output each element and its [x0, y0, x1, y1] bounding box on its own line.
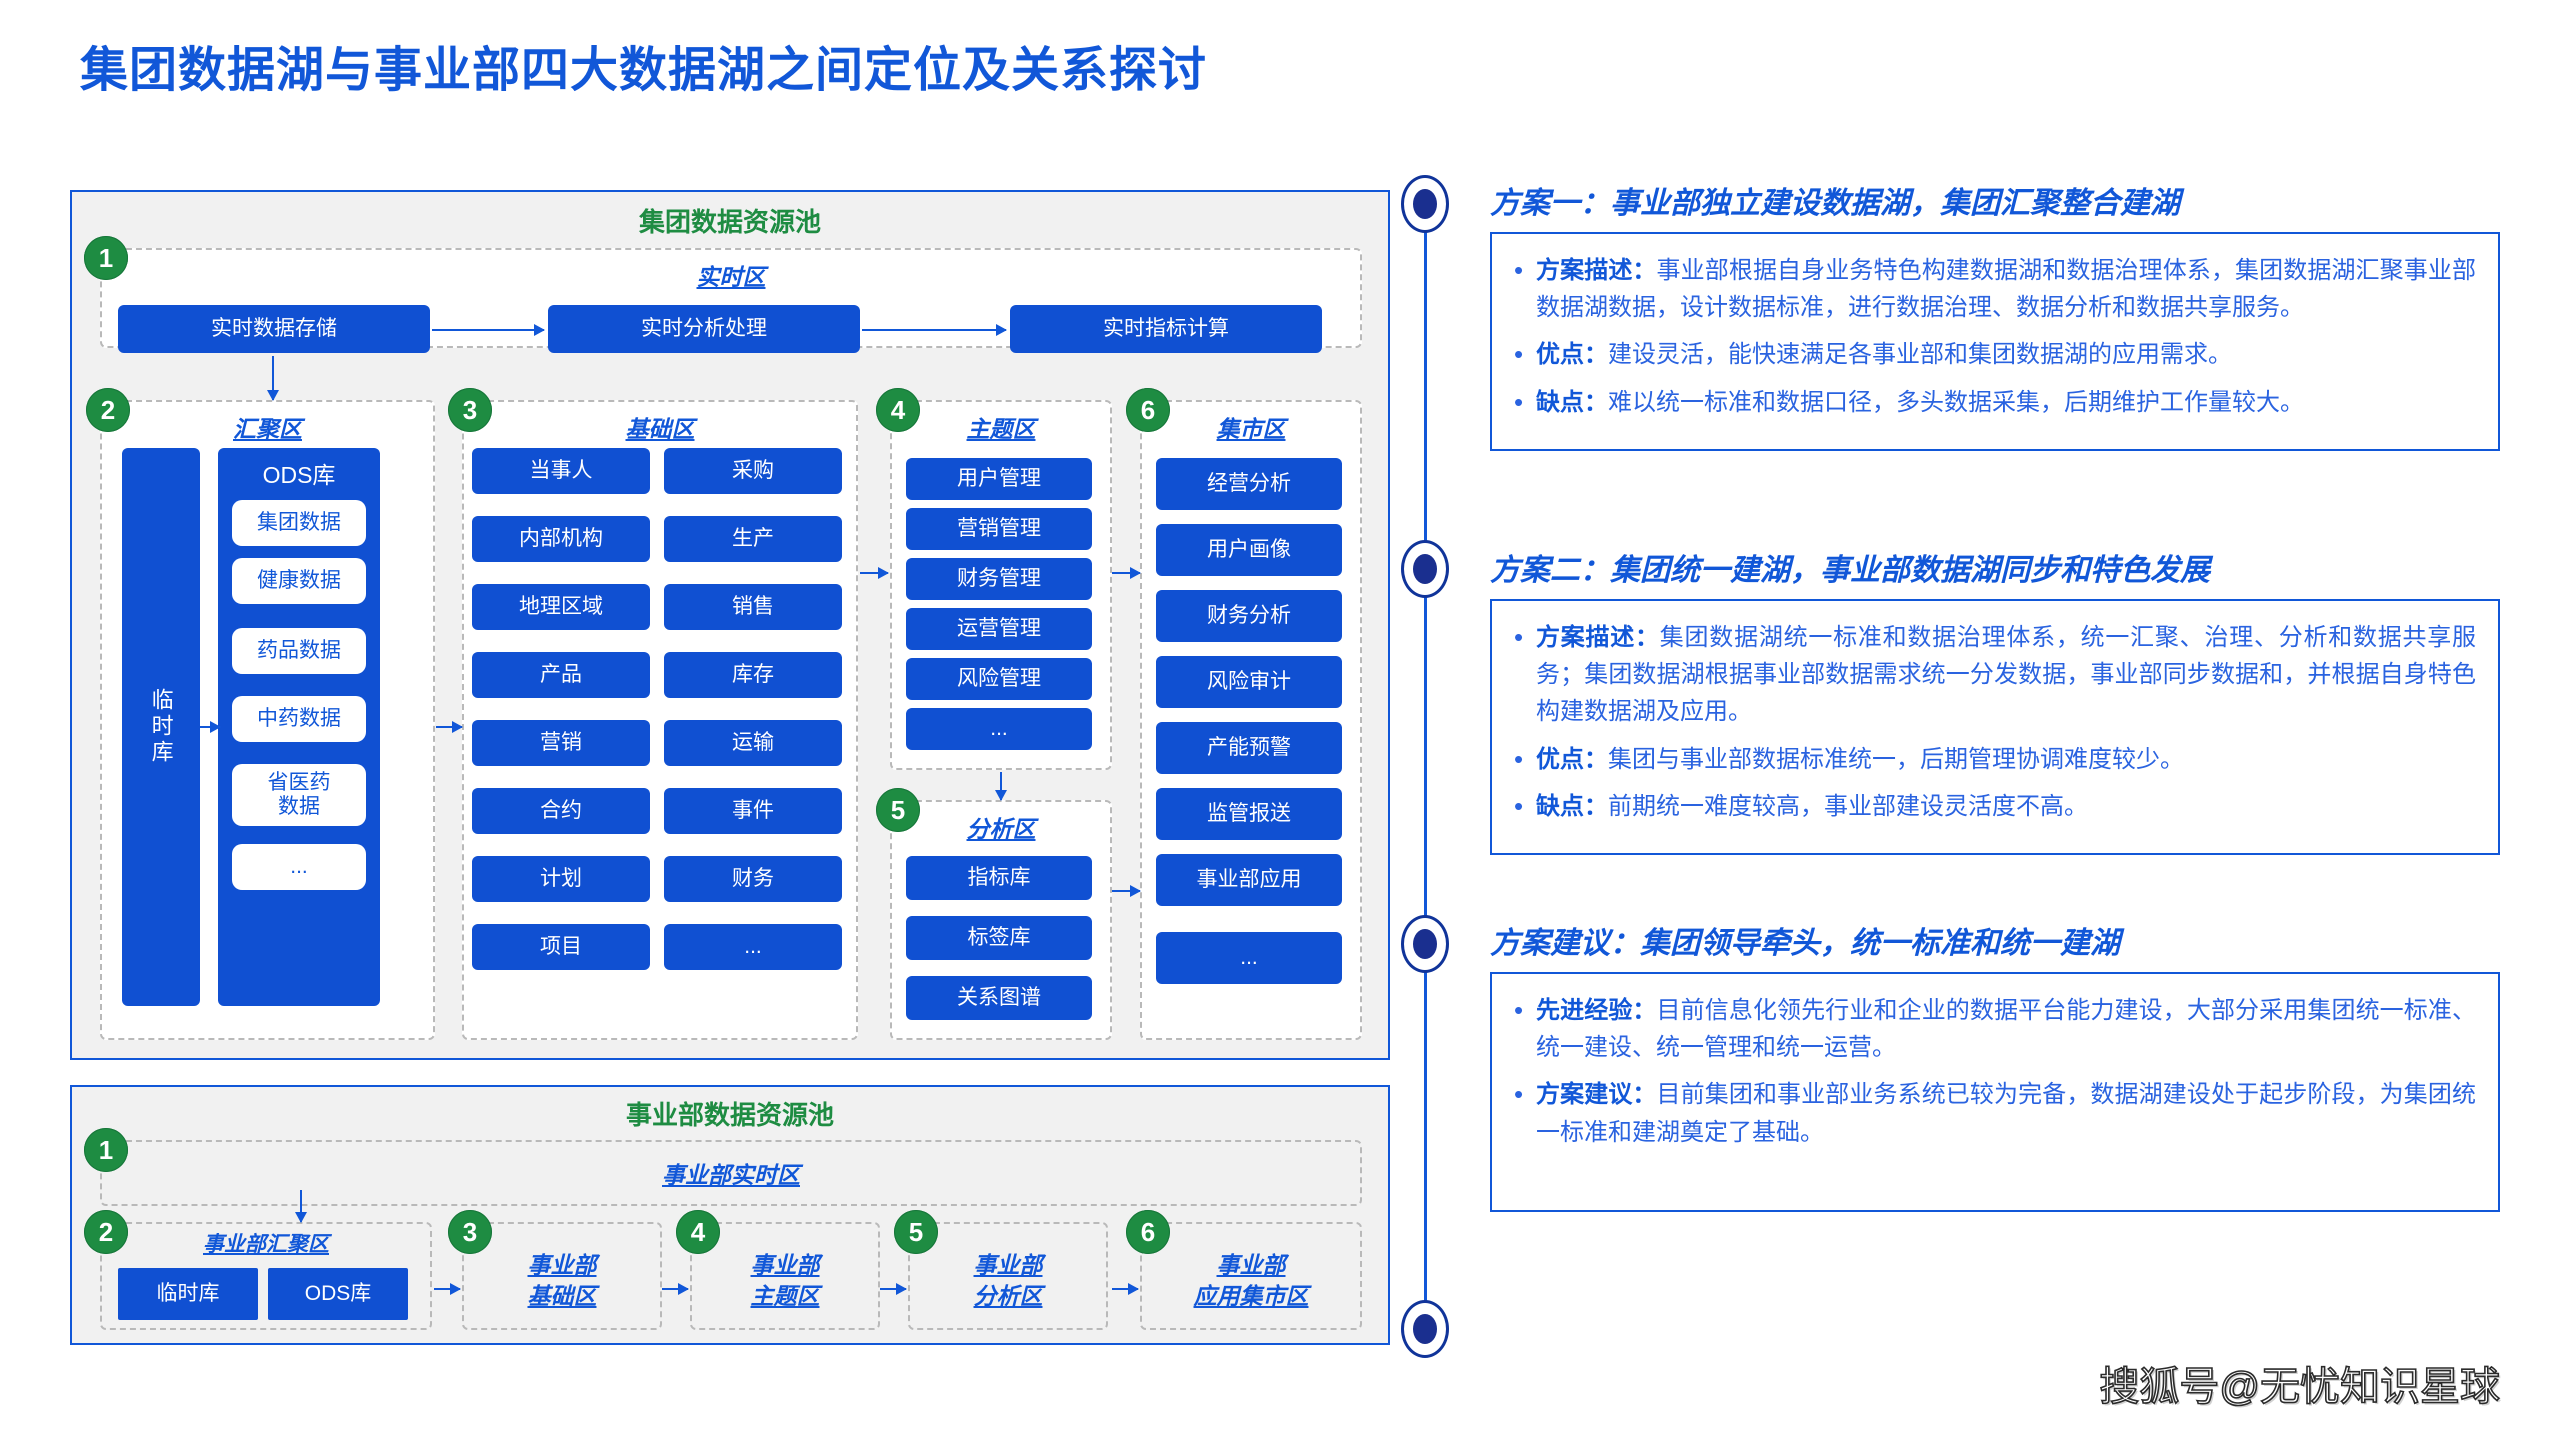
temp-store-box[interactable]: 临时库 — [122, 448, 200, 1006]
scheme-3-body: 先进经验：目前信息化领先行业和企业的数据平台能力建设，大部分采用集团统一标准、统… — [1490, 972, 2500, 1212]
analysis-item-2[interactable]: 关系图谱 — [906, 976, 1092, 1020]
badge-convergence: 2 — [86, 388, 130, 432]
badge-realtime: 1 — [84, 236, 128, 280]
analysis-item-1[interactable]: 标签库 — [906, 916, 1092, 960]
timeline-dot-0[interactable] — [1401, 175, 1449, 233]
arrow-bu-0 — [434, 1288, 460, 1290]
arrow-bu-1 — [662, 1288, 688, 1290]
analysis-item-0[interactable]: 指标库 — [906, 856, 1092, 900]
foundation-right-3[interactable]: 库存 — [664, 652, 842, 698]
foundation-left-4[interactable]: 营销 — [472, 720, 650, 766]
arrow-subject-to-analysis — [1000, 772, 1002, 800]
scheme-1-bullet-0-text: 事业部根据自身业务特色构建数据湖和数据治理体系，集团数据湖汇聚事业部数据湖数据，… — [1536, 257, 2476, 321]
foundation-left-7[interactable]: 项目 — [472, 924, 650, 970]
scheme-1-bullet-1-label: 优点： — [1536, 341, 1608, 368]
scheme-2-heading: 方案二：集团统一建湖，事业部数据湖同步和特色发展 — [1490, 545, 2500, 589]
zone-bu-convergence-title: 事业部汇聚区 — [102, 1228, 430, 1258]
zone-realtime-title: 实时区 — [102, 258, 1360, 292]
ods-item-0[interactable]: 集团数据 — [232, 500, 366, 546]
subject-item-2[interactable]: 财务管理 — [906, 558, 1092, 600]
ods-item-5[interactable]: ... — [232, 844, 366, 890]
badge-bu-stage-1: 4 — [676, 1210, 720, 1254]
bu-pool-title: 事业部数据资源池 — [72, 1095, 1388, 1132]
zone-market-title: 集市区 — [1142, 410, 1360, 444]
scheme-2-bullet-1: 优点：集团与事业部数据标准统一，后期管理协调难度较少。 — [1510, 741, 2476, 778]
foundation-left-6[interactable]: 计划 — [472, 856, 650, 902]
foundation-right-6[interactable]: 财务 — [664, 856, 842, 902]
scheme-2-bullet-2: 缺点：前期统一难度较高，事业部建设灵活度不高。 — [1510, 788, 2476, 825]
scheme-2-bullet-0: 方案描述：集团数据湖统一标准和数据治理体系，统一汇聚、治理、分析和数据共享服务；… — [1510, 619, 2476, 731]
realtime-item-1[interactable]: 实时分析处理 — [548, 305, 860, 353]
badge-bu-stage-0: 3 — [448, 1210, 492, 1254]
market-item-0[interactable]: 经营分析 — [1156, 458, 1342, 510]
scheme-3-bullet-0: 先进经验：目前信息化领先行业和企业的数据平台能力建设，大部分采用集团统一标准、统… — [1510, 992, 2476, 1066]
arrow-foundation-to-subject — [860, 572, 888, 574]
scheme-block-2: 方案二：集团统一建湖，事业部数据湖同步和特色发展 方案描述：集团数据湖统一标准和… — [1490, 545, 2500, 855]
watermark: 搜狐号@无忧知识星球 — [2099, 1354, 2500, 1412]
page-title: 集团数据湖与事业部四大数据湖之间定位及关系探讨 — [80, 30, 1207, 100]
scheme-3-bullet-0-label: 先进经验： — [1536, 997, 1657, 1024]
ods-container: ODS库 集团数据 健康数据 药品数据 中药数据 省医药 数据 ... — [218, 448, 380, 1006]
scheme-3-bullet-0-text: 目前信息化领先行业和企业的数据平台能力建设，大部分采用集团统一标准、统一建设、统… — [1536, 997, 2476, 1061]
market-item-6[interactable]: 事业部应用 — [1156, 854, 1342, 906]
ods-item-4-label: 省医药 数据 — [268, 771, 331, 819]
foundation-left-1[interactable]: 内部机构 — [472, 516, 650, 562]
badge-market: 6 — [1126, 388, 1170, 432]
arrow-subject-to-market — [1112, 572, 1140, 574]
arrow-bu-realtime-to-convergence — [300, 1190, 302, 1222]
bu-convergence-item-1[interactable]: ODS库 — [268, 1268, 408, 1320]
group-pool-title: 集团数据资源池 — [72, 202, 1388, 239]
timeline-dot-3[interactable] — [1401, 1300, 1449, 1358]
badge-analysis: 5 — [876, 788, 920, 832]
market-item-5[interactable]: 监管报送 — [1156, 788, 1342, 840]
arrow-realtime-to-convergence — [272, 356, 274, 400]
foundation-right-5[interactable]: 事件 — [664, 788, 842, 834]
timeline-axis — [1424, 200, 1427, 1340]
market-item-3[interactable]: 风险审计 — [1156, 656, 1342, 708]
scheme-3-bullet-1: 方案建议：目前集团和事业部业务系统已较为完备，数据湖建设处于起步阶段，为集团统一… — [1510, 1076, 2476, 1150]
scheme-1-bullet-2: 缺点：难以统一标准和数据口径，多头数据采集，后期维护工作量较大。 — [1510, 384, 2476, 421]
foundation-right-0[interactable]: 采购 — [664, 448, 842, 494]
timeline-dot-2[interactable] — [1401, 915, 1449, 973]
ods-item-1[interactable]: 健康数据 — [232, 558, 366, 604]
badge-bu-stage-3: 6 — [1126, 1210, 1170, 1254]
scheme-1-bullet-1-text: 建设灵活，能快速满足各事业部和集团数据湖的应用需求。 — [1608, 341, 2232, 368]
badge-bu-convergence: 2 — [84, 1210, 128, 1254]
foundation-right-4[interactable]: 运输 — [664, 720, 842, 766]
foundation-right-2[interactable]: 销售 — [664, 584, 842, 630]
badge-bu-stage-2: 5 — [894, 1210, 938, 1254]
zone-analysis-title: 分析区 — [892, 810, 1110, 844]
scheme-block-3: 方案建议：集团领导牵头，统一标准和统一建湖 先进经验：目前信息化领先行业和企业的… — [1490, 918, 2500, 1212]
bu-stage-label-3[interactable]: 事业部 应用集市区 — [1146, 1250, 1356, 1312]
scheme-3-bullet-1-text: 目前集团和事业部业务系统已较为完备，数据湖建设处于起步阶段，为集团统一标准和建湖… — [1536, 1081, 2476, 1145]
timeline-dot-inner-2 — [1413, 929, 1437, 959]
market-item-4[interactable]: 产能预警 — [1156, 722, 1342, 774]
ods-title: ODS库 — [218, 456, 380, 490]
foundation-left-5[interactable]: 合约 — [472, 788, 650, 834]
scheme-2-bullet-1-label: 优点： — [1536, 746, 1608, 773]
scheme-1-bullet-2-label: 缺点： — [1536, 389, 1608, 416]
scheme-2-bullet-0-text: 集团数据湖统一标准和数据治理体系，统一汇聚、治理、分析和数据共享服务；集团数据湖… — [1536, 624, 2476, 725]
badge-foundation: 3 — [448, 388, 492, 432]
timeline-dot-inner-1 — [1413, 554, 1437, 584]
bu-convergence-item-0[interactable]: 临时库 — [118, 1268, 258, 1320]
zone-convergence-title: 汇聚区 — [102, 410, 433, 444]
scheme-1-heading: 方案一：事业部独立建设数据湖，集团汇聚整合建湖 — [1490, 178, 2500, 222]
zone-bu-realtime: 事业部实时区 — [100, 1140, 1362, 1206]
subject-item-0[interactable]: 用户管理 — [906, 458, 1092, 500]
scheme-block-1: 方案一：事业部独立建设数据湖，集团汇聚整合建湖 方案描述：事业部根据自身业务特色… — [1490, 178, 2500, 451]
foundation-left-0[interactable]: 当事人 — [472, 448, 650, 494]
scheme-1-bullet-0: 方案描述：事业部根据自身业务特色构建数据湖和数据治理体系，集团数据湖汇聚事业部数… — [1510, 252, 2476, 326]
arrow-convergence-to-foundation — [436, 726, 462, 728]
zone-subject-title: 主题区 — [892, 410, 1110, 444]
ods-item-4[interactable]: 省医药 数据 — [232, 764, 366, 826]
ods-item-3[interactable]: 中药数据 — [232, 696, 366, 742]
zone-foundation-title: 基础区 — [464, 410, 856, 444]
arrow-temp-to-ods — [200, 726, 220, 728]
foundation-right-1[interactable]: 生产 — [664, 516, 842, 562]
scheme-2-bullet-1-text: 集团与事业部数据标准统一，后期管理协调难度较少。 — [1608, 746, 2184, 773]
scheme-1-body: 方案描述：事业部根据自身业务特色构建数据湖和数据治理体系，集团数据湖汇聚事业部数… — [1490, 232, 2500, 451]
bu-stage-label-1[interactable]: 事业部 主题区 — [696, 1250, 874, 1312]
arrow-realtime-0-1 — [432, 329, 544, 331]
market-item-1[interactable]: 用户画像 — [1156, 524, 1342, 576]
bu-stage-label-2[interactable]: 事业部 分析区 — [914, 1250, 1102, 1312]
scheme-2-bullet-2-text: 前期统一难度较高，事业部建设灵活度不高。 — [1608, 793, 2088, 820]
badge-subject: 4 — [876, 388, 920, 432]
foundation-right-7[interactable]: ... — [664, 924, 842, 970]
foundation-left-2[interactable]: 地理区域 — [472, 584, 650, 630]
bu-stage-label-0[interactable]: 事业部 基础区 — [470, 1250, 654, 1312]
market-item-2[interactable]: 财务分析 — [1156, 590, 1342, 642]
ods-item-2[interactable]: 药品数据 — [232, 628, 366, 674]
timeline-dot-1[interactable] — [1401, 540, 1449, 598]
timeline-dot-inner-3 — [1413, 1314, 1437, 1344]
arrow-bu-2 — [880, 1288, 906, 1290]
realtime-item-2[interactable]: 实时指标计算 — [1010, 305, 1322, 353]
subject-item-1[interactable]: 营销管理 — [906, 508, 1092, 550]
scheme-2-bullet-0-label: 方案描述： — [1536, 624, 1660, 651]
timeline-dot-inner-0 — [1413, 189, 1437, 219]
subject-item-3[interactable]: 运营管理 — [906, 608, 1092, 650]
subject-item-5[interactable]: ... — [906, 708, 1092, 750]
arrow-analysis-to-market — [1112, 890, 1140, 892]
scheme-1-bullet-1: 优点：建设灵活，能快速满足各事业部和集团数据湖的应用需求。 — [1510, 336, 2476, 373]
scheme-3-bullet-1-label: 方案建议： — [1536, 1081, 1657, 1108]
scheme-1-bullet-0-label: 方案描述： — [1536, 257, 1657, 284]
badge-bu-realtime: 1 — [84, 1128, 128, 1172]
realtime-item-0[interactable]: 实时数据存储 — [118, 305, 430, 353]
subject-item-4[interactable]: 风险管理 — [906, 658, 1092, 700]
zone-bu-realtime-title: 事业部实时区 — [102, 1156, 1360, 1190]
scheme-1-bullet-2-text: 难以统一标准和数据口径，多头数据采集，后期维护工作量较大。 — [1608, 389, 2304, 416]
scheme-2-body: 方案描述：集团数据湖统一标准和数据治理体系，统一汇聚、治理、分析和数据共享服务；… — [1490, 599, 2500, 855]
market-item-7[interactable]: ... — [1156, 932, 1342, 984]
arrow-bu-3 — [1112, 1288, 1138, 1290]
arrow-realtime-1-2 — [862, 329, 1006, 331]
scheme-3-heading: 方案建议：集团领导牵头，统一标准和统一建湖 — [1490, 918, 2500, 962]
scheme-2-bullet-2-label: 缺点： — [1536, 793, 1608, 820]
foundation-left-3[interactable]: 产品 — [472, 652, 650, 698]
